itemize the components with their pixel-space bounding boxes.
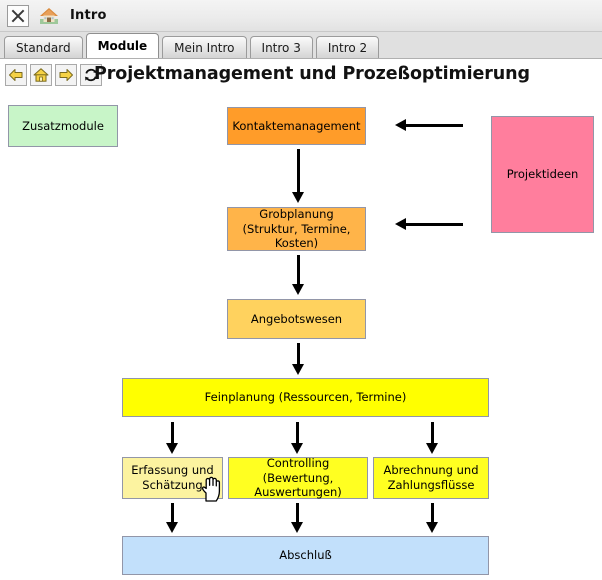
- diagram-canvas: Projektmanagement und Prozeßoptimierung: [0, 59, 602, 580]
- arrow-down-angebotswesen-to-feinplanung: [292, 343, 305, 375]
- arrow-down-kontakte-to-grobplanung: [292, 149, 305, 203]
- tab-intro-2[interactable]: Intro 2: [316, 36, 379, 58]
- arrow-down-erfassung-to-abschluss: [166, 503, 179, 533]
- arrow-down-feinplanung-to-controlling: [291, 422, 304, 454]
- arrow-left-projektideen-to-kontakte: [395, 119, 463, 132]
- window-header: Intro: [0, 0, 602, 32]
- node-controlling[interactable]: Controlling (Bewertung, Auswertungen): [228, 457, 368, 499]
- node-kontaktemanagement[interactable]: Kontaktemanagement: [227, 107, 366, 145]
- arrow-down-grobplanung-to-angebotswesen: [292, 255, 305, 295]
- arrow-down-controlling-to-abschluss: [291, 503, 304, 533]
- page-title: Projektmanagement und Prozeßoptimierung: [0, 64, 602, 84]
- node-erfassung-und-schaetzung[interactable]: Erfassung und Schätzung: [122, 457, 223, 499]
- node-grobplanung[interactable]: Grobplanung (Struktur, Termine, Kosten): [227, 207, 366, 251]
- tab-strip: Standard Module Mein Intro Intro 3 Intro…: [0, 32, 602, 59]
- node-angebotswesen[interactable]: Angebotswesen: [227, 299, 366, 339]
- tab-mein-intro[interactable]: Mein Intro: [162, 36, 246, 58]
- arrow-down-feinplanung-to-erfassung: [166, 422, 179, 454]
- tab-intro-3[interactable]: Intro 3: [250, 36, 313, 58]
- node-feinplanung[interactable]: Feinplanung (Ressourcen, Termine): [122, 378, 489, 417]
- window-title: Intro: [70, 8, 107, 23]
- arrow-left-projektideen-to-grobplanung: [395, 218, 463, 231]
- house-icon: [39, 6, 59, 26]
- tab-standard[interactable]: Standard: [4, 36, 83, 58]
- tab-module[interactable]: Module: [86, 33, 160, 58]
- node-abrechnung[interactable]: Abrechnung und Zahlungsflüsse: [373, 457, 489, 499]
- close-icon[interactable]: [7, 5, 29, 27]
- arrow-down-abrechnung-to-abschluss: [426, 503, 439, 533]
- node-zusatzmodule[interactable]: Zusatzmodule: [8, 105, 118, 147]
- node-abschluss[interactable]: Abschluß: [122, 536, 489, 575]
- arrow-down-feinplanung-to-abrechnung: [426, 422, 439, 454]
- node-projektideen[interactable]: Projektideen: [491, 116, 594, 233]
